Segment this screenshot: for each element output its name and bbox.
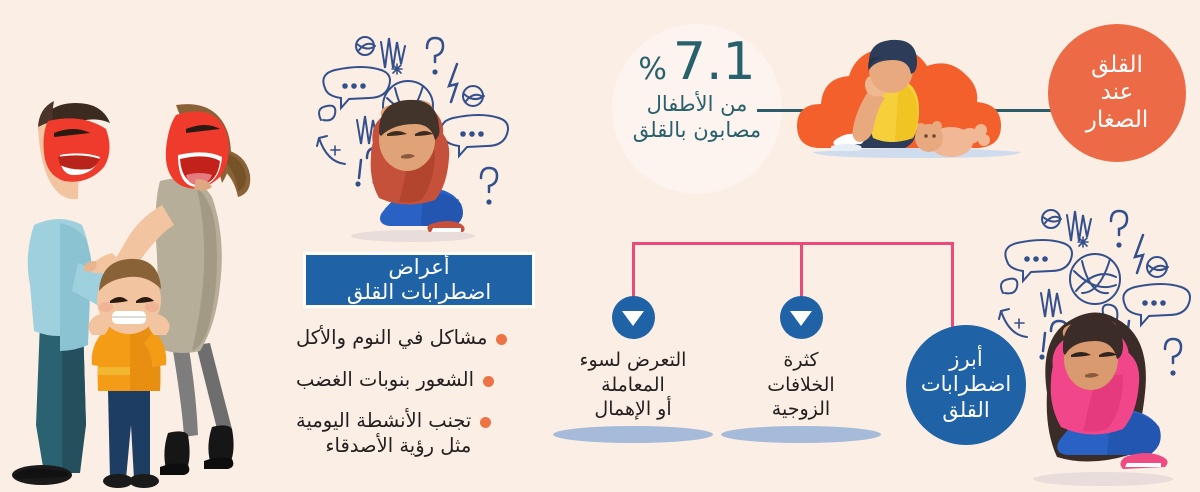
symptoms-banner-line2: اضطرابات القلق — [347, 280, 491, 304]
list-item: تجنب الأنشطة اليومية مثل رؤية الأصدقاء — [296, 409, 542, 458]
branch-1-line2: المعاملة — [601, 374, 665, 396]
title-badge: القلق عند الصغار — [1048, 24, 1186, 162]
title-line-3: الصغار — [1086, 107, 1149, 133]
symptoms-list: مشاكل في النوم والأكل الشعور بنوبات الغض… — [296, 326, 542, 475]
worried-girl-illustration — [985, 205, 1200, 492]
list-item: مشاكل في النوم والأكل — [296, 326, 542, 351]
infographic-canvas: % 7.1 من الأطفال مصابون بالقلق — [0, 0, 1200, 492]
branch-2-line1: كثرة — [783, 349, 818, 371]
tree-connector-root — [951, 242, 954, 332]
symptoms-banner: أعراض اضطرابات القلق — [303, 252, 535, 308]
bullet-dot-icon — [483, 376, 494, 387]
triangle-down-icon — [780, 296, 823, 339]
symptom-text-2: الشعور بنوبات الغضب — [296, 368, 474, 393]
triangle-down-glyph — [622, 311, 644, 326]
statistic-caption-line1: من الأطفال — [606, 92, 788, 118]
statistic-value-row: % 7.1 — [606, 36, 788, 88]
branch-1-shadow-ellipse — [553, 426, 713, 443]
tree-connector-branch-2 — [800, 242, 803, 298]
disorders-heading-line3: القلق — [942, 398, 989, 422]
symptoms-banner-line1: أعراض — [388, 255, 449, 279]
branch-1-line1: التعرض لسوء — [580, 349, 687, 371]
statistic-caption-line2: مصابون بالقلق — [606, 118, 788, 144]
title-line-1: القلق — [1091, 52, 1143, 78]
tree-connector-horizontal — [632, 242, 954, 245]
triangle-down-icon — [612, 296, 655, 339]
branch-1-line3: أو الإهمال — [594, 398, 671, 420]
disorder-branch-2-label: كثرة الخلافات الزوجية — [716, 348, 886, 422]
list-item: الشعور بنوبات الغضب — [296, 368, 542, 393]
title-badge-label: القلق عند الصغار — [1086, 52, 1149, 133]
statistic-value: 7.1 — [673, 36, 756, 88]
symptom-text-1: مشاكل في النوم والأكل — [296, 326, 487, 351]
symptom-text-3: تجنب الأنشطة اليومية مثل رؤية الأصدقاء — [296, 409, 471, 458]
sad-boy-cloud-illustration — [795, 30, 1040, 170]
disorder-branch-2: كثرة الخلافات الزوجية — [716, 296, 886, 443]
percent-symbol: % — [638, 52, 667, 87]
title-line-2: عند — [1101, 79, 1134, 105]
branch-2-shadow-ellipse — [721, 426, 881, 443]
bullet-dot-icon — [480, 417, 491, 428]
triangle-down-glyph — [790, 311, 812, 326]
arguing-parents-illustration — [0, 95, 300, 492]
tree-connector-branch-1 — [632, 242, 635, 298]
statistic-caption: من الأطفال مصابون بالقلق — [606, 92, 788, 143]
disorder-branch-1-label: التعرض لسوء المعاملة أو الإهمال — [548, 348, 718, 422]
branch-2-line2: الخلافات — [767, 374, 834, 396]
statistic-block: % 7.1 من الأطفال مصابون بالقلق — [606, 36, 788, 143]
worried-boy-illustration — [305, 28, 520, 248]
bullet-dot-icon — [496, 334, 507, 345]
symptoms-banner-label: أعراض اضطرابات القلق — [347, 255, 491, 305]
branch-2-line3: الزوجية — [772, 398, 830, 420]
disorders-heading-line1: أبرز — [949, 347, 982, 371]
disorder-branch-1: التعرض لسوء المعاملة أو الإهمال — [548, 296, 718, 443]
